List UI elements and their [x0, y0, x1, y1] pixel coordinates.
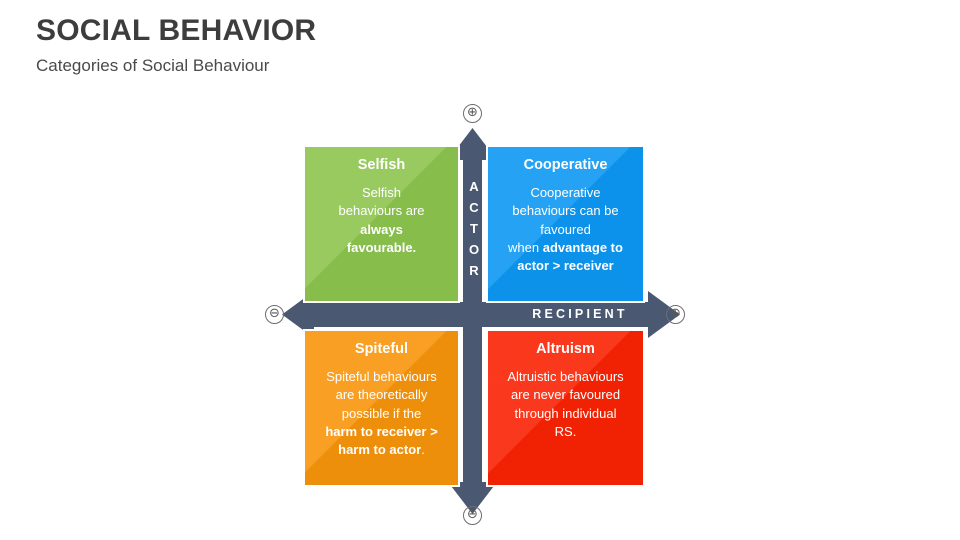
quadrant-title: Cooperative [496, 157, 635, 174]
actor-axis-label: A C T O R [462, 176, 486, 281]
quadrant-body: Cooperativebehaviours can befavouredwhen… [496, 184, 635, 276]
plus-icon-top: ⊕ [463, 104, 482, 123]
quadrant-title: Spiteful [313, 341, 450, 358]
quadrant-selfish[interactable]: Selfish Selfishbehaviours arealwaysfavou… [303, 145, 460, 303]
quadrant-altruism[interactable]: Altruism Altruistic behavioursare never … [486, 329, 645, 487]
minus-icon-bottom: ⊖ [463, 506, 482, 525]
quadrant-title: Altruism [496, 341, 635, 358]
quadrant-title: Selfish [313, 157, 450, 174]
recipient-axis-label: RECIPIENT [500, 307, 660, 321]
quadrant-body: Altruistic behavioursare never favouredt… [496, 368, 635, 442]
quadrant-body: Selfishbehaviours arealwaysfavourable. [313, 184, 450, 258]
quadrant-diagram: A C T O R RECIPIENT ⊕ ⊖ ⊖ ⊕ Selfish Self… [0, 0, 960, 540]
quadrant-cooperative[interactable]: Cooperative Cooperativebehaviours can be… [486, 145, 645, 303]
plus-icon-right: ⊕ [666, 305, 685, 324]
quadrant-spiteful[interactable]: Spiteful Spiteful behavioursare theoreti… [303, 329, 460, 487]
minus-icon-left: ⊖ [265, 305, 284, 324]
quadrant-body: Spiteful behavioursare theoreticallyposs… [313, 368, 450, 460]
